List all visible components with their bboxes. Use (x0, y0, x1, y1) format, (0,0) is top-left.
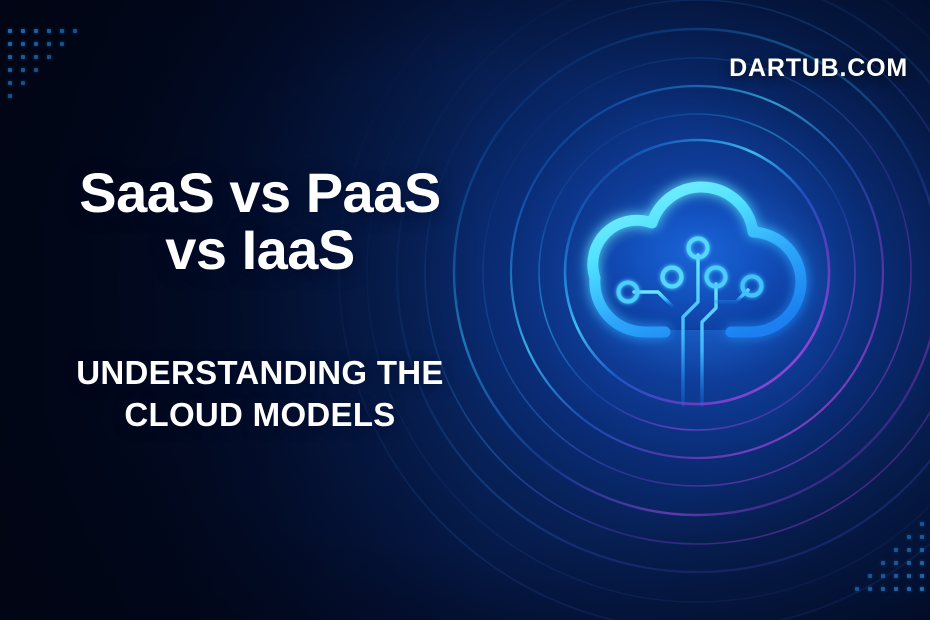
decor-dot (8, 81, 12, 85)
poster-canvas: DARTUB.COM SaaS vs PaaS vs IaaS UNDERSTA… (0, 0, 930, 620)
title-line-1: SaaS vs PaaS (0, 164, 520, 221)
decor-dot (881, 587, 885, 591)
decor-dot (60, 29, 64, 33)
decor-dot (868, 587, 872, 591)
decor-dot (894, 548, 898, 552)
decor-dot (34, 42, 38, 46)
subtitle-line-2: CLOUD MODELS (0, 394, 520, 436)
decor-dot (21, 81, 25, 85)
decor-dot (8, 55, 12, 59)
decor-dot (8, 68, 12, 72)
decor-dot (60, 42, 64, 46)
decor-dot (920, 548, 924, 552)
decor-dot (920, 522, 924, 526)
decor-dot (881, 561, 885, 565)
decor-dot (34, 68, 38, 72)
decor-dot (907, 548, 911, 552)
decor-dot (34, 29, 38, 33)
decor-dot (920, 574, 924, 578)
decor-dot (47, 29, 51, 33)
decor-dot (21, 55, 25, 59)
decor-dot (47, 55, 51, 59)
decor-dot (21, 68, 25, 72)
decor-dot (8, 42, 12, 46)
decor-dot (881, 574, 885, 578)
decor-dot (47, 42, 51, 46)
decor-dot (8, 94, 12, 98)
decor-dot (907, 574, 911, 578)
decor-dot (907, 535, 911, 539)
decor-dot (907, 561, 911, 565)
decor-dot (8, 29, 12, 33)
decor-dot (868, 574, 872, 578)
decor-dot (21, 42, 25, 46)
decor-dot (920, 587, 924, 591)
decor-dot (920, 561, 924, 565)
decor-dot (34, 55, 38, 59)
page-title: SaaS vs PaaS vs IaaS (0, 164, 520, 278)
decor-dot (855, 587, 859, 591)
subtitle-line-1: UNDERSTANDING THE (0, 352, 520, 394)
brand-wordmark: DARTUB.COM (729, 54, 908, 83)
decor-dot (894, 587, 898, 591)
decor-dot (894, 574, 898, 578)
decor-dot (907, 587, 911, 591)
decor-dot (920, 535, 924, 539)
title-line-2: vs IaaS (0, 221, 520, 278)
decor-dot (73, 29, 77, 33)
page-subtitle: UNDERSTANDING THE CLOUD MODELS (0, 352, 520, 436)
cloud-circuit-icon (548, 160, 848, 410)
decor-dot (21, 29, 25, 33)
decor-dot (894, 561, 898, 565)
